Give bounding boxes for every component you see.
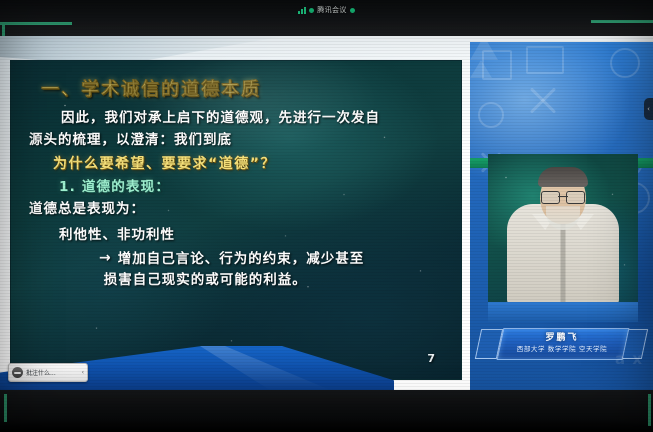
status-dot-icon	[309, 8, 314, 13]
slide-arrow-text: 增加自己言论、行为的约束，减少甚至 损害自己现实的或可能的利益。	[118, 249, 365, 291]
slide-subheading: 1. 道德的表现：	[59, 175, 170, 195]
presentation-slide[interactable]: 一、学术诚信的道德本质 因此，我们对承上启下的道德观，先进行一次发自 源头的梳理…	[10, 60, 462, 380]
bezel-corner-bottom-left	[4, 394, 7, 422]
annotation-icon[interactable]	[12, 367, 23, 378]
slide-paragraph-line-1: 因此，我们对承上启下的道德观，先进行一次发自	[61, 106, 380, 126]
annotation-toolbar[interactable]: 批注什么... ‹	[8, 363, 88, 382]
speaker-affiliation: 西部大学 数学学院 空天学院	[492, 343, 632, 353]
bezel-corner-top-right	[591, 20, 653, 23]
speaker-desk	[488, 302, 638, 322]
signal-bars-icon	[298, 6, 306, 14]
circle-icon	[610, 48, 640, 78]
speaker-hair	[538, 167, 588, 187]
x-mark-icon	[526, 82, 560, 116]
speaker-video[interactable]	[488, 154, 638, 322]
slide-arrow-line-1: 增加自己言论、行为的约束，减少甚至	[118, 249, 365, 270]
square-icon	[482, 50, 512, 80]
slide-arrow-line-2: 损害自己现实的或可能的利益。	[104, 270, 365, 291]
meeting-status-bar: 腾讯会议	[0, 5, 653, 15]
slide-lead-line: 道德总是表现为：	[29, 197, 145, 217]
panel-collapse-handle[interactable]: ‹	[644, 98, 653, 120]
speaker-video-panel[interactable]: 罗鹏飞 西部大学 数学学院 空天学院 a x ‹	[470, 36, 653, 390]
arrow-right-icon: →	[99, 249, 111, 267]
slide-highlight-question: 为什么要希望、要要求“道德”？	[53, 153, 276, 173]
slide-paragraph-line-2: 源头的梳理，以澄清：我们到底	[29, 128, 232, 148]
annotation-toolbar-label: 批注什么...	[26, 368, 79, 377]
video-panel-top-strip	[470, 36, 653, 42]
screen-photo: 腾讯会议 一、学术诚信的道德本质 因此，我们对承上启下的道德观，先进行一次发自 …	[0, 0, 653, 432]
video-panel-watermark: a x	[615, 350, 643, 368]
square-icon	[526, 46, 564, 74]
recording-dot-icon	[350, 8, 355, 13]
slide-bullet-line: 利他性、非功利性	[59, 223, 175, 243]
chevron-left-icon[interactable]: ‹	[82, 369, 84, 376]
bezel-corner-top-left	[0, 22, 72, 25]
shared-screen-area[interactable]: 一、学术诚信的道德本质 因此，我们对承上启下的道德观，先进行一次发自 源头的梳理…	[0, 36, 470, 390]
glasses-icon	[541, 191, 585, 202]
slide-title: 一、学术诚信的道德本质	[41, 75, 261, 101]
circle-icon	[478, 102, 504, 128]
speaker-name: 罗鹏飞	[500, 330, 624, 343]
bezel-corner-bottom-right	[648, 394, 651, 426]
meeting-app-label: 腾讯会议	[317, 5, 347, 15]
display-bottom-bezel	[0, 390, 653, 432]
slide-arrow-block: → 增加自己言论、行为的约束，减少甚至 损害自己现实的或可能的利益。	[99, 249, 364, 291]
